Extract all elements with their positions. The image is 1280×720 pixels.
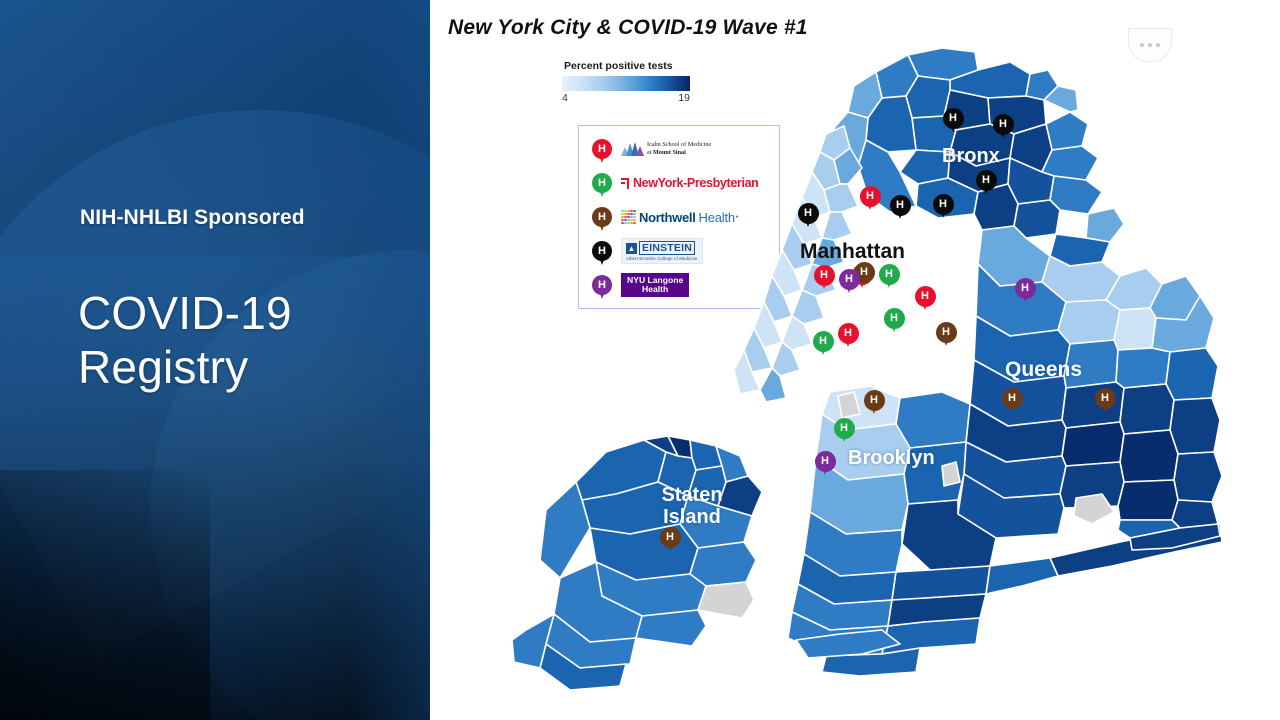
pin-tail bbox=[999, 127, 1007, 138]
pin-tail bbox=[870, 403, 878, 414]
map-panel: New York City & COVID-19 Wave #1 Percent… bbox=[430, 0, 1280, 720]
pin-tail bbox=[942, 335, 950, 346]
pin-tail bbox=[819, 344, 827, 355]
panel-dark-corner bbox=[0, 470, 210, 720]
pin-tail bbox=[820, 278, 828, 289]
pin-tail bbox=[921, 299, 929, 310]
map-hospital-pin-icon[interactable]: H bbox=[1015, 278, 1036, 299]
slide-root: NIH-NHLBI Sponsored COVID-19 Registry Ne… bbox=[0, 0, 1280, 720]
map-hospital-pin-icon[interactable]: H bbox=[1095, 388, 1116, 409]
page-title-line-1: COVID-19 bbox=[78, 286, 418, 340]
map-hospital-pin-icon[interactable]: H bbox=[815, 451, 836, 472]
map-hospital-pin-icon[interactable]: H bbox=[1002, 388, 1023, 409]
page-title: COVID-19 Registry bbox=[78, 286, 418, 395]
sponsor-text: NIH-NHLBI Sponsored bbox=[80, 206, 410, 230]
pin-tail bbox=[982, 183, 990, 194]
pin-tail bbox=[845, 282, 853, 293]
page-title-line-2: Registry bbox=[78, 340, 418, 394]
pin-tail bbox=[804, 216, 812, 227]
map-hospital-pin-icon[interactable]: H bbox=[933, 194, 954, 215]
pin-tail bbox=[844, 336, 852, 347]
pin-tail bbox=[666, 540, 674, 551]
pin-tail bbox=[1021, 291, 1029, 302]
pin-tail bbox=[949, 121, 957, 132]
map-hospital-pin-icon[interactable]: H bbox=[943, 108, 964, 129]
pin-tail bbox=[1008, 401, 1016, 412]
left-title-panel: NIH-NHLBI Sponsored COVID-19 Registry bbox=[0, 0, 430, 720]
map-hospital-pin-icon[interactable]: H bbox=[860, 186, 881, 207]
map-hospital-pin-icon[interactable]: H bbox=[834, 418, 855, 439]
nyc-choropleth-map bbox=[430, 0, 1280, 720]
map-hospital-pin-icon[interactable]: H bbox=[915, 286, 936, 307]
map-zip-regions bbox=[512, 48, 1222, 690]
map-hospital-pin-icon[interactable]: H bbox=[838, 323, 859, 344]
map-hospital-pin-icon[interactable]: H bbox=[839, 269, 860, 290]
map-hospital-pin-icon[interactable]: H bbox=[660, 527, 681, 548]
pin-tail bbox=[1101, 401, 1109, 412]
map-hospital-pin-icon[interactable]: H bbox=[890, 195, 911, 216]
pin-tail bbox=[860, 275, 868, 286]
pin-tail bbox=[896, 208, 904, 219]
map-hospital-pin-icon[interactable]: H bbox=[993, 114, 1014, 135]
pin-tail bbox=[840, 431, 848, 442]
map-hospital-pin-icon[interactable]: H bbox=[798, 203, 819, 224]
pin-tail bbox=[885, 277, 893, 288]
pin-tail bbox=[866, 199, 874, 210]
map-hospital-pin-icon[interactable]: H bbox=[813, 331, 834, 352]
map-hospital-pin-icon[interactable]: H bbox=[976, 170, 997, 191]
pin-tail bbox=[821, 464, 829, 475]
pin-tail bbox=[939, 207, 947, 218]
pin-tail bbox=[890, 321, 898, 332]
map-hospital-pin-icon[interactable]: H bbox=[936, 322, 957, 343]
map-hospital-pin-icon[interactable]: H bbox=[814, 265, 835, 286]
map-hospital-pin-icon[interactable]: H bbox=[884, 308, 905, 329]
map-hospital-pin-icon[interactable]: H bbox=[879, 264, 900, 285]
map-hospital-pin-icon[interactable]: H bbox=[864, 390, 885, 411]
